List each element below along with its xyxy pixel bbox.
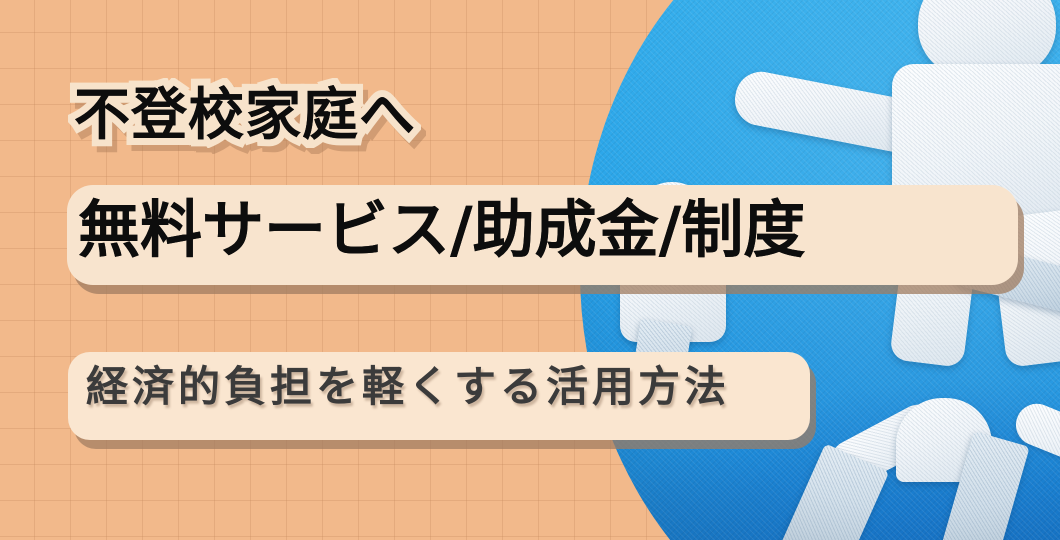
headline-line-1: 不登校家庭へ 不登校家庭へ [74,88,416,144]
banner-root: 不登校家庭へ 不登校家庭へ 無料サービス/助成金/制度 無料サービス/助成金/制… [0,0,1060,540]
headline-line-3: 経済的負担を軽くする活用方法 [86,366,730,408]
headline-line-2: 無料サービス/助成金/制度 無料サービス/助成金/制度 [78,199,805,261]
headline-line-2-fill: 無料サービス/助成金/制度 [78,199,805,261]
headline-line-1-fill: 不登校家庭へ [74,88,416,144]
